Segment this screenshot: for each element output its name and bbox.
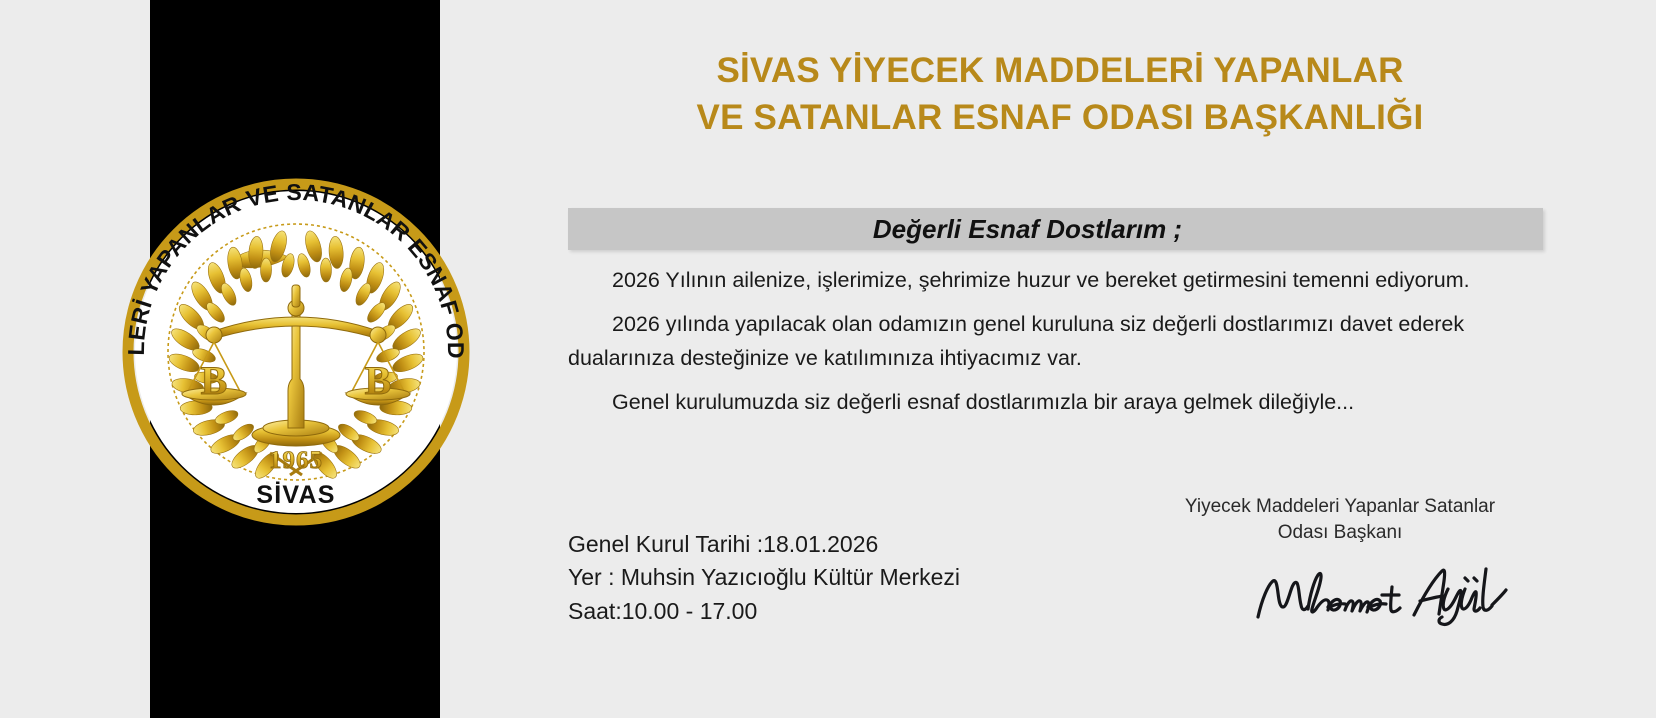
title-line-2: VE SATANLAR ESNAF ODASI BAŞKANLIĞI [568,95,1552,142]
svg-text:1965: 1965 [269,447,323,474]
flyer-page: YİYECEK MADDELERİ YAPANLAR VE SATANLAR E… [0,0,1656,718]
subtitle-band: Değerli Esnaf Dostlarım ; [568,208,1543,250]
svg-text:B: B [365,358,392,403]
svg-text:SİVAS: SİVAS [256,481,335,509]
svg-text:B: B [201,358,228,403]
signature-block: Yiyecek Maddeleri Yapanlar Satanlar Odas… [1140,494,1540,631]
signer-role: Yiyecek Maddeleri Yapanlar Satanlar Odas… [1140,494,1540,545]
paragraph: 2026 yılında yapılacak olan odamızın gen… [568,308,1498,375]
meeting-details: Genel Kurul Tarihi :18.01.2026 Yer : Muh… [568,528,960,628]
meeting-time: Saat:10.00 - 17.00 [568,595,960,628]
subtitle-text: Değerli Esnaf Dostlarım ; [540,208,1515,250]
meeting-venue: Yer : Muhsin Yazıcıoğlu Kültür Merkezi [568,561,960,594]
paragraph: Genel kurulumuzda siz değerli esnaf dost… [568,386,1498,419]
letter-body: 2026 Yılının ailenize, işlerimize, şehri… [568,264,1498,430]
chamber-seal: YİYECEK MADDELERİ YAPANLAR VE SATANLAR E… [96,145,496,560]
content-column: SİVAS YİYECEK MADDELERİ YAPANLAR VE SATA… [568,0,1552,718]
signer-role-line-2: Odası Başkanı [1140,520,1540,546]
title-line-1: SİVAS YİYECEK MADDELERİ YAPANLAR [568,48,1552,95]
paragraph: 2026 Yılının ailenize, işlerimize, şehri… [568,264,1498,297]
signer-role-line-1: Yiyecek Maddeleri Yapanlar Satanlar [1140,494,1540,520]
page-title: SİVAS YİYECEK MADDELERİ YAPANLAR VE SATA… [568,0,1552,141]
handwritten-signature: Mehmet Akgül [1140,559,1540,631]
meeting-date: Genel Kurul Tarihi :18.01.2026 [568,528,960,561]
